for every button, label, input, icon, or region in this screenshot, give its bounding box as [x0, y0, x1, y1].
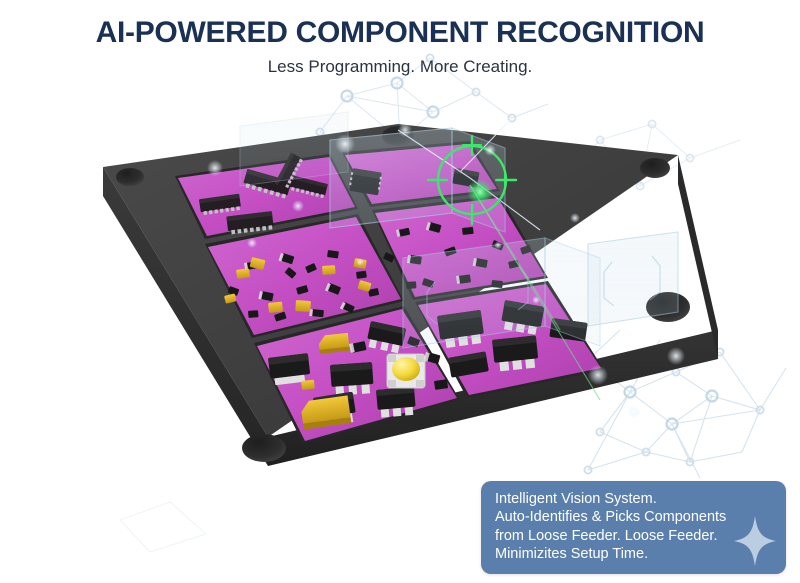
- page-subtitle: Less Programming. More Creating.: [0, 58, 800, 77]
- vision-beam: [470, 185, 600, 400]
- glow-particles: [207, 123, 685, 419]
- target-reticle: [428, 136, 516, 224]
- page-title: AI-POWERED COMPONENT RECOGNITION: [0, 16, 800, 49]
- caption-line-1: Intelligent Vision System.: [495, 490, 772, 508]
- pocket-6-sot-transistors: [415, 281, 604, 398]
- caption-text: Intelligent Vision System. Auto-Identifi…: [495, 490, 772, 564]
- caption-card: Intelligent Vision System. Auto-Identifi…: [481, 481, 786, 574]
- pocket-4-small-smd: [372, 195, 548, 300]
- pocket-2-soic: [342, 141, 500, 207]
- pocket-1-dip-ics: [175, 153, 358, 239]
- caption-line-2: Auto-Identifies & Picks Components: [495, 508, 772, 526]
- guide-lines: [398, 118, 540, 230]
- header: AI-POWERED COMPONENT RECOGNITION Less Pr…: [0, 16, 800, 77]
- caption-line-4: Minimizites Setup Time.: [495, 545, 772, 563]
- pocket-3-passives: [205, 214, 404, 338]
- poster-canvas: AI-POWERED COMPONENT RECOGNITION Less Pr…: [0, 0, 800, 583]
- scan-brackets: [427, 256, 660, 324]
- pocket-5-transistors-led: [254, 306, 460, 444]
- vision-scan-panels: [240, 112, 678, 348]
- caption-line-3: from Loose Feeder. Loose Feeder.: [495, 527, 772, 545]
